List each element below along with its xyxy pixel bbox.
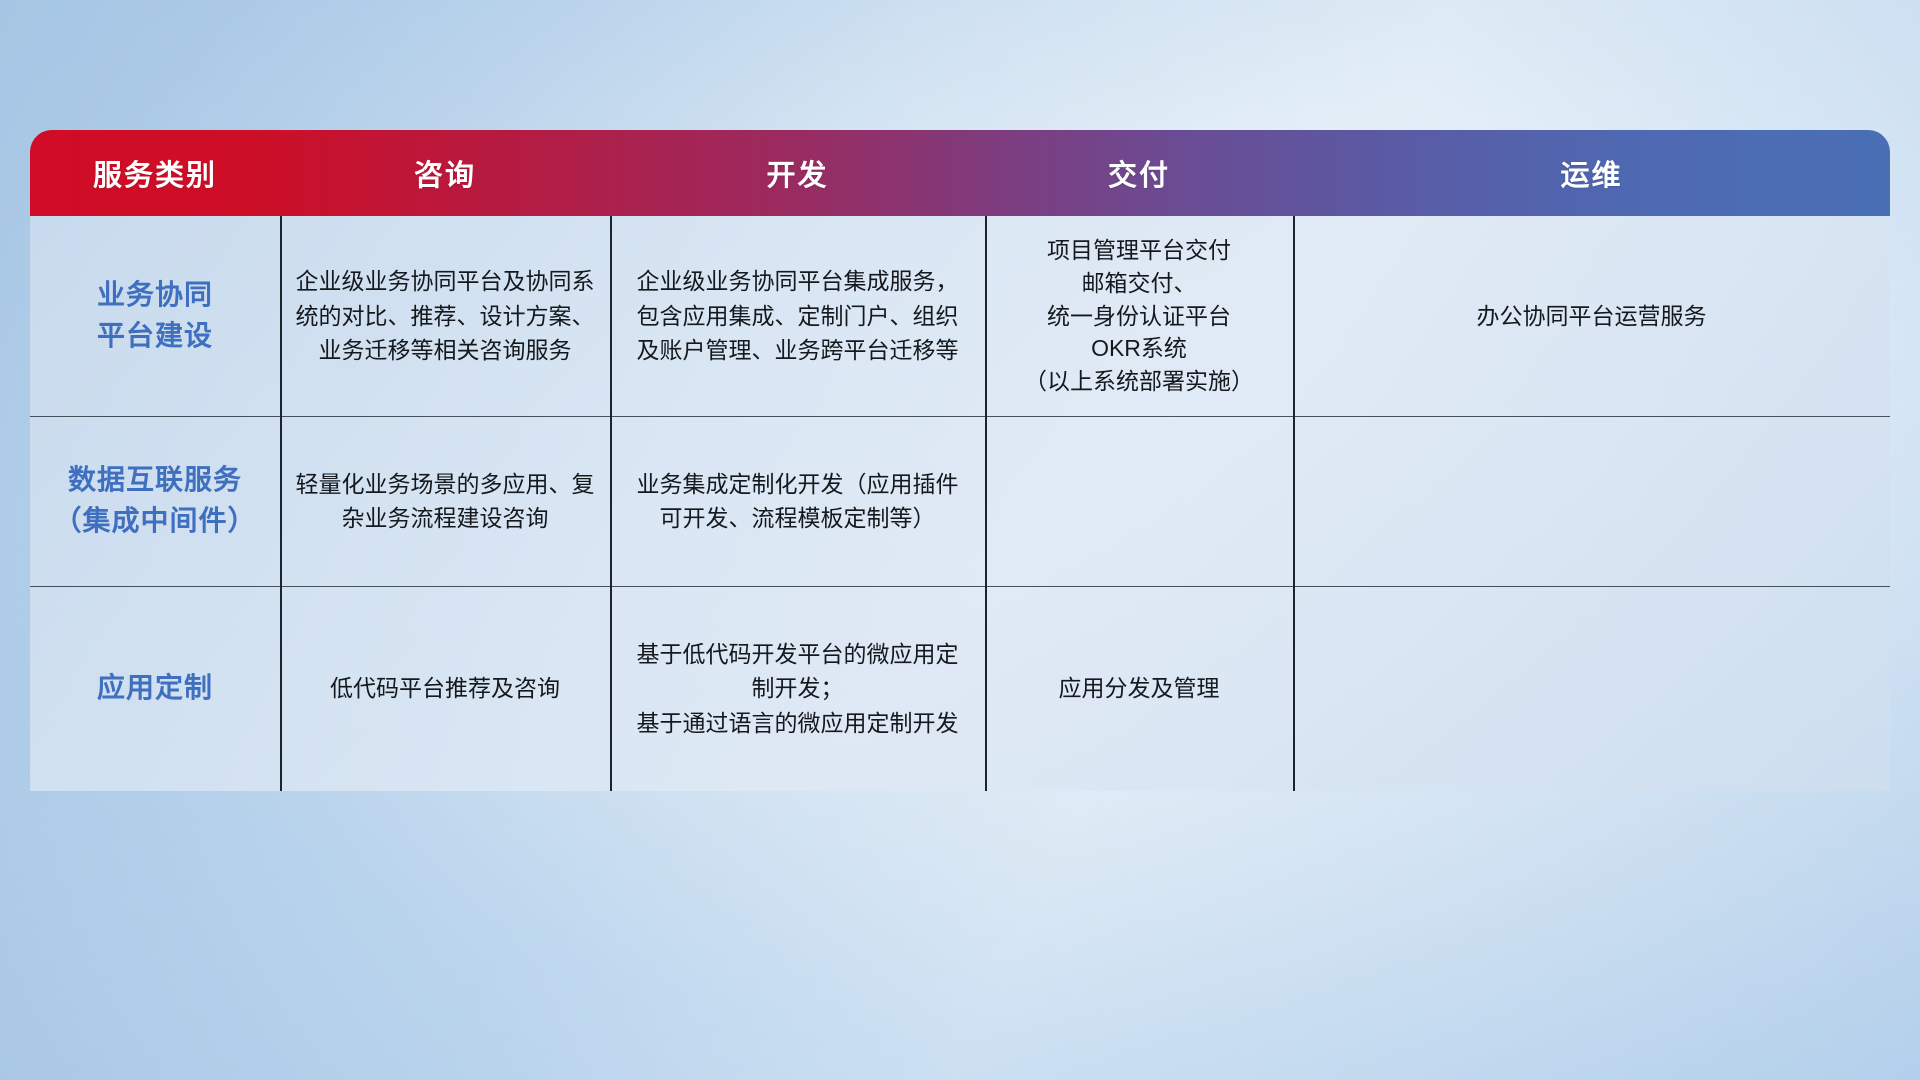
slide-canvas: 服务类别 咨询 开发 交付 运维 业务协同 平台建设 企业级业务协同平台及协同 <box>0 0 1920 1080</box>
cell-delivery <box>985 416 1293 586</box>
column-header-label: 交付 <box>1108 152 1170 194</box>
cell-operations <box>1293 586 1890 791</box>
cell-consulting: 低代码平台推荐及咨询 <box>280 586 610 791</box>
cell-category: 业务协同 平台建设 <box>30 216 280 416</box>
cell-development: 企业级业务协同平台集成服务， 包含应用集成、定制门户、组织 及账户管理、业务跨平… <box>610 216 985 416</box>
table-header-row: 服务类别 咨询 开发 交付 运维 <box>30 130 1890 216</box>
column-header-label: 开发 <box>766 152 828 194</box>
column-header-service-category: 服务类别 <box>30 130 280 216</box>
column-header-label: 咨询 <box>414 152 476 194</box>
table-row: 应用定制 低代码平台推荐及咨询 基于低代码开发平台的微应用定 制开发； 基于通过… <box>30 586 1890 791</box>
cell-consulting: 企业级业务协同平台及协同系 统的对比、推荐、设计方案、 业务迁移等相关咨询服务 <box>280 216 610 416</box>
column-header-operations: 运维 <box>1293 130 1890 216</box>
column-header-label: 服务类别 <box>93 152 217 194</box>
cell-consulting: 轻量化业务场景的多应用、复 杂业务流程建设咨询 <box>280 416 610 586</box>
cell-delivery: 项目管理平台交付 邮箱交付、 统一身份认证平台 OKR系统 （以上系统部署实施） <box>985 216 1293 416</box>
service-matrix-table: 服务类别 咨询 开发 交付 运维 业务协同 平台建设 企业级业务协同平台及协同 <box>30 130 1890 791</box>
category-label: 应用定制 <box>97 668 213 709</box>
cell-text: 办公协同平台运营服务 <box>1477 299 1707 334</box>
column-header-consulting: 咨询 <box>280 130 610 216</box>
column-header-label: 运维 <box>1560 152 1622 194</box>
table-body: 业务协同 平台建设 企业级业务协同平台及协同系 统的对比、推荐、设计方案、 业务… <box>30 216 1890 791</box>
category-label: 业务协同 平台建设 <box>97 275 213 356</box>
cell-text: 低代码平台推荐及咨询 <box>330 671 560 706</box>
table-row: 数据互联服务 （集成中间件） 轻量化业务场景的多应用、复 杂业务流程建设咨询 业… <box>30 416 1890 586</box>
cell-text: 企业级业务协同平台集成服务， 包含应用集成、定制门户、组织 及账户管理、业务跨平… <box>637 264 959 368</box>
cell-text: 轻量化业务场景的多应用、复 杂业务流程建设咨询 <box>296 467 595 536</box>
column-header-development: 开发 <box>610 130 985 216</box>
cell-text: 基于低代码开发平台的微应用定 制开发； 基于通过语言的微应用定制开发 <box>637 637 959 741</box>
cell-category: 数据互联服务 （集成中间件） <box>30 416 280 586</box>
cell-category: 应用定制 <box>30 586 280 791</box>
cell-text: 项目管理平台交付 邮箱交付、 统一身份认证平台 OKR系统 （以上系统部署实施） <box>1024 234 1254 397</box>
cell-text: 业务集成定制化开发（应用插件 可开发、流程模板定制等） <box>637 467 959 536</box>
cell-development: 业务集成定制化开发（应用插件 可开发、流程模板定制等） <box>610 416 985 586</box>
cell-text: 应用分发及管理 <box>1059 671 1220 706</box>
cell-text: 企业级业务协同平台及协同系 统的对比、推荐、设计方案、 业务迁移等相关咨询服务 <box>296 264 595 368</box>
cell-development: 基于低代码开发平台的微应用定 制开发； 基于通过语言的微应用定制开发 <box>610 586 985 791</box>
category-label: 数据互联服务 （集成中间件） <box>53 460 256 541</box>
column-header-delivery: 交付 <box>985 130 1293 216</box>
cell-operations <box>1293 416 1890 586</box>
table-row: 业务协同 平台建设 企业级业务协同平台及协同系 统的对比、推荐、设计方案、 业务… <box>30 216 1890 416</box>
cell-operations: 办公协同平台运营服务 <box>1293 216 1890 416</box>
cell-delivery: 应用分发及管理 <box>985 586 1293 791</box>
